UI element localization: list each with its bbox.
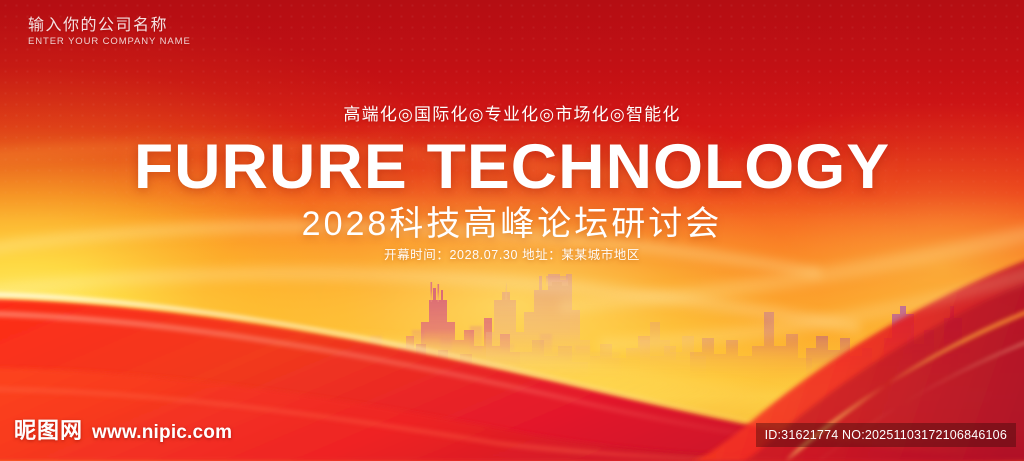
- kicker-text: 高端化◎国际化◎专业化◎市场化◎智能化: [0, 100, 1024, 125]
- watermark-url: www.nipic.com: [92, 422, 232, 444]
- headline-title: FURURE TECHNOLOGY: [0, 133, 1024, 201]
- company-name-cn: 输入你的公司名称: [28, 16, 191, 35]
- subtitle-cn: 2028科技高峰论坛研讨会: [0, 203, 1024, 245]
- id-tag: ID:31621774 NO:20251103172106846106: [756, 423, 1016, 447]
- event-meta: 开幕时间：2028.07.30 地址：某某城市地区: [0, 247, 1024, 264]
- watermark: 昵图网 www.nipic.com: [14, 413, 232, 445]
- watermark-brand-cn: 昵图网: [14, 413, 83, 445]
- company-name-block: 输入你的公司名称 ENTER YOUR COMPANY NAME: [28, 16, 191, 48]
- poster-canvas: 输入你的公司名称 ENTER YOUR COMPANY NAME 高端化◎国际化…: [0, 0, 1024, 461]
- company-name-en: ENTER YOUR COMPANY NAME: [28, 35, 191, 48]
